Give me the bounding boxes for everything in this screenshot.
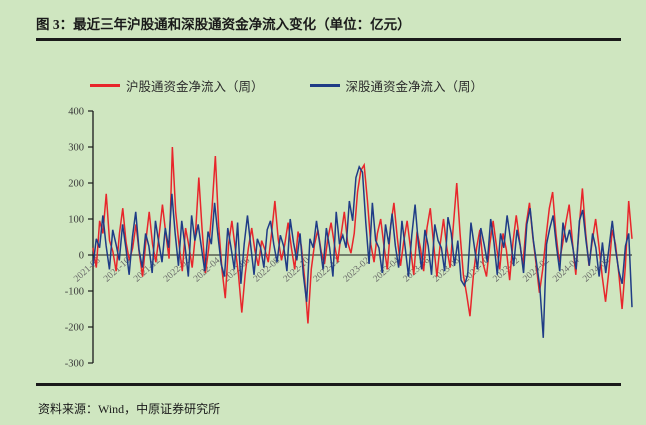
legend-swatch-shanghai-icon (90, 84, 120, 87)
legend-item-shanghai[interactable]: 沪股通资金净流入（周） (90, 76, 264, 95)
y-axis: 4003002001000-100-200-300 (65, 107, 93, 370)
title-divider-top (36, 38, 621, 41)
x-axis-tick-label: 2021-12 (132, 256, 162, 285)
x-axis-tick-label: 2023-02 (342, 256, 372, 285)
legend-swatch-shenzhen-icon (310, 84, 340, 87)
y-axis-tick-label: 100 (68, 215, 84, 226)
legend-label-shenzhen: 深股通资金净流入（周） (346, 76, 484, 95)
figure-source-row: 资料来源：Wind，中原证券研究所 (38, 398, 220, 418)
y-axis-tick-label: 0 (79, 251, 84, 262)
y-axis-tick-label: -300 (65, 359, 84, 370)
data-series-group (93, 147, 632, 338)
y-axis-tick-label: -100 (65, 287, 84, 298)
y-axis-tick-label: -200 (65, 323, 84, 334)
series-line-shenzhen (93, 167, 632, 338)
figure-title-row: 图 3：最近三年沪股通和深股通资金净流入变化（单位：亿元） (36, 10, 621, 36)
y-axis-tick-label: 200 (68, 179, 84, 190)
legend-item-shenzhen[interactable]: 深股通资金净流入（周） (310, 76, 484, 95)
chart-legend: 沪股通资金净流入（周） 深股通资金净流入（周） (90, 74, 570, 96)
chart-plot-area: 4003002001000-100-200-300 2021-082021-10… (0, 100, 646, 375)
legend-label-shanghai: 沪股通资金净流入（周） (126, 76, 264, 95)
source-text: 资料来源：Wind，中原证券研究所 (38, 400, 220, 417)
line-chart-svg: 4003002001000-100-200-300 2021-082021-10… (0, 100, 646, 375)
source-divider-bottom (36, 383, 621, 386)
y-axis-tick-label: 400 (68, 107, 84, 118)
x-axis-tick-label: 2021-08 (72, 256, 102, 285)
figure-card: 图 3：最近三年沪股通和深股通资金净流入变化（单位：亿元） 沪股通资金净流入（周… (0, 0, 646, 425)
page-title: 图 3：最近三年沪股通和深股通资金净流入变化（单位：亿元） (36, 13, 411, 33)
y-axis-tick-label: 300 (68, 143, 84, 154)
